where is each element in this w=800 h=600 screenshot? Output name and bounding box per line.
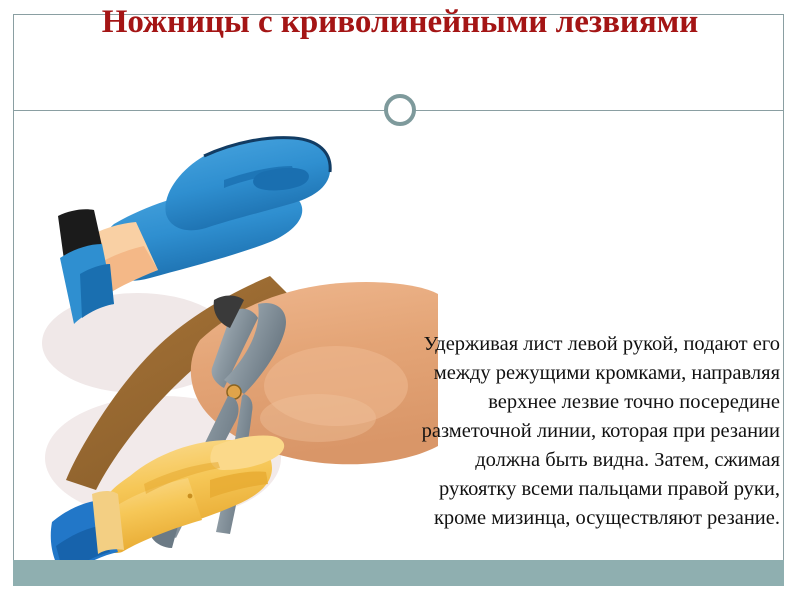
yellow-glove-dot	[188, 494, 193, 499]
frame-left-line	[13, 14, 14, 586]
slide-title: Ножницы с криволинейными лезвиями	[90, 2, 710, 42]
frame-bottom-bar	[13, 560, 784, 586]
frame-right-line	[783, 14, 784, 586]
slide-canvas: Ножницы с криволинейными лезвиями Удержи…	[0, 0, 800, 600]
circle-ornament-icon	[384, 94, 416, 126]
illustration-shears-cutting-sheet	[18, 128, 438, 560]
slide-body-text: Удерживая лист левой рукой, подают его м…	[398, 330, 780, 533]
sheet-highlight-2	[260, 394, 376, 442]
